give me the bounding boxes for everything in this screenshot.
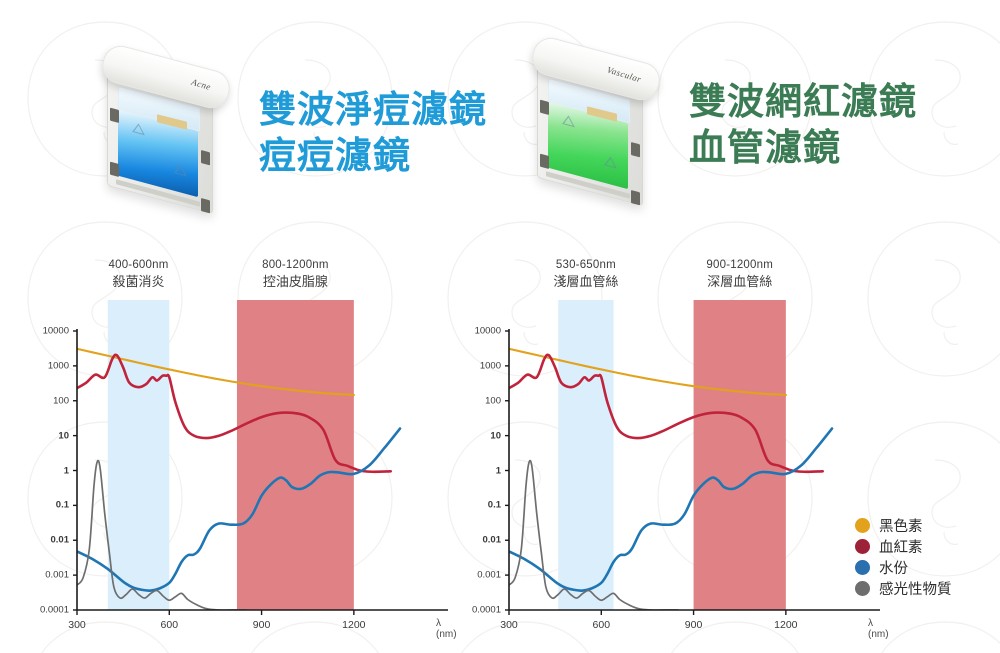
wavelength-band [694,300,786,610]
x-axis-tick-label: 1200 [774,619,797,631]
product-title-line2: 血管濾鏡 [689,125,917,171]
chart-vascular-absorption-spectrum: 1000010001001010.10.010.0010.00013006009… [432,250,892,650]
y-axis-tick-label: 0.01 [51,535,70,546]
device-model-label: Acne [190,77,212,92]
y-axis-tick-label: 0.0001 [40,605,69,616]
y-axis-tick-label: 10000 [43,326,69,337]
product-card-acne: Acne 雙波淨痘濾鏡 痘痘濾鏡 [95,60,487,205]
y-axis-tick-label: 0.0001 [472,605,501,616]
x-axis-tick-label: 1200 [342,619,365,631]
y-axis-tick-label: 10 [490,430,501,441]
y-axis-tick-label: 0.1 [56,500,69,511]
legend-color-swatch [855,518,870,533]
wavelength-band [108,300,170,610]
plot-area [0,250,460,650]
y-axis-tick-label: 10000 [475,326,501,337]
product-title-line1: 雙波網紅濾鏡 [689,79,917,125]
y-axis-tick-label: 100 [485,395,501,406]
band-range-label: 530-650nm [516,258,656,273]
band-description: 深層血管絲 [670,273,810,290]
y-axis-tick-label: 0.001 [477,570,501,581]
x-axis-tick-label: 300 [500,619,518,631]
device-model-label: Vascular [605,64,642,84]
legend-item-label: 黑色素 [879,515,923,536]
x-axis-tick-label: 600 [593,619,611,631]
y-axis-tick-label: 10 [58,430,69,441]
x-axis-tick-label: 600 [161,619,179,631]
y-axis-tick-label: 0.1 [488,500,501,511]
x-axis-tick-label: 900 [253,619,271,631]
y-axis-tick-label: 1000 [480,360,501,371]
wavelength-band [237,300,354,610]
y-axis-tick-label: 1000 [48,360,69,371]
band-description: 淺層血管絲 [516,273,656,290]
x-axis-tick-label: 900 [685,619,703,631]
plot-area [432,250,892,650]
band-description: 殺菌消炎 [69,273,209,290]
wavelength-band [558,300,613,610]
legend-item-label: 水份 [879,557,908,578]
band-caption: 900-1200nm深層血管絲 [670,258,810,290]
legend-item: 黑色素 [855,515,952,536]
y-axis-tick-label: 0.01 [483,535,502,546]
y-axis-tick-label: 100 [53,395,69,406]
band-caption: 400-600nm殺菌消炎 [69,258,209,290]
product-title-line1: 雙波淨痘濾鏡 [259,87,487,133]
legend-item: 感光性物質 [855,578,952,599]
y-axis-tick-label: 1 [496,465,501,476]
legend-item: 血紅素 [855,536,952,557]
product-title-acne: 雙波淨痘濾鏡 痘痘濾鏡 [259,87,487,178]
x-axis-label: λ (nm) [868,618,892,640]
band-description: 控油皮脂腺 [225,273,365,290]
band-caption: 800-1200nm控油皮脂腺 [225,258,365,290]
chart-legend: 黑色素血紅素水份感光性物質 [855,515,952,599]
band-range-label: 800-1200nm [225,258,365,273]
product-title-vascular: 雙波網紅濾鏡 血管濾鏡 [689,79,917,170]
band-range-label: 900-1200nm [670,258,810,273]
legend-color-swatch [855,560,870,575]
product-header: Acne 雙波淨痘濾鏡 痘痘濾鏡 [0,0,1000,240]
band-range-label: 400-600nm [69,258,209,273]
device-image-acne: Acne [95,60,245,205]
legend-item: 水份 [855,557,952,578]
y-axis-tick-label: 0.001 [45,570,69,581]
device-image-vascular: Vascular [525,52,675,197]
product-card-vascular: Vascular 雙波網紅濾鏡 血管濾鏡 [525,52,917,197]
legend-item-label: 感光性物質 [879,578,952,599]
band-caption: 530-650nm淺層血管絲 [516,258,656,290]
x-axis-tick-label: 300 [68,619,86,631]
legend-color-swatch [855,539,870,554]
y-axis-tick-label: 1 [64,465,69,476]
legend-item-label: 血紅素 [879,536,923,557]
product-title-line2: 痘痘濾鏡 [259,133,487,179]
legend-color-swatch [855,581,870,596]
chart-acne-absorption-spectrum: 1000010001001010.10.010.0010.00013006009… [0,250,460,650]
